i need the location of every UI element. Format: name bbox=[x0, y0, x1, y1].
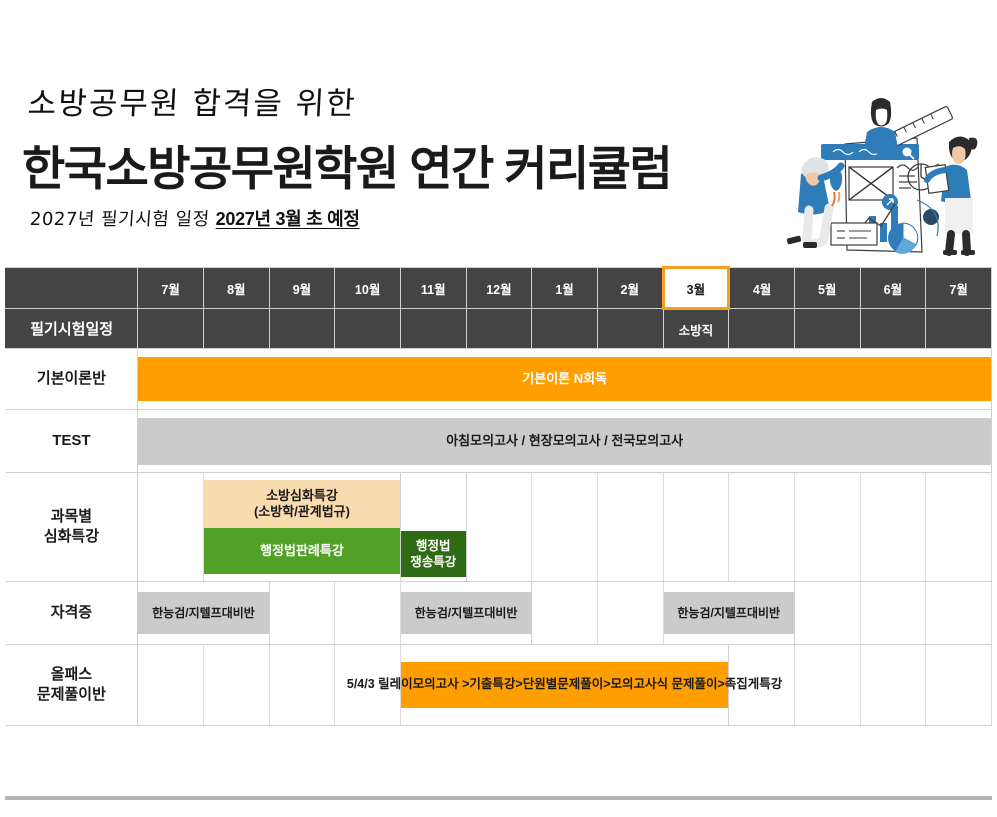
fire-intensive-bar[interactable]: 소방심화특강 (소방학/관계법규) bbox=[204, 480, 400, 528]
header-kicker: 소방공무원 합격을 위한 bbox=[27, 78, 358, 123]
cert-cell-5 bbox=[794, 582, 860, 645]
row-label-basic-theory: 기본이론반 bbox=[6, 349, 138, 410]
deep-bar-stack: 소방심화특강 (소방학/관계법규) 행정법판례특강 bbox=[204, 473, 400, 581]
admin-law-case-bar[interactable]: 행정법판례특강 bbox=[204, 528, 400, 574]
cert-cell-6 bbox=[860, 582, 926, 645]
month-header-10[interactable]: 10월 bbox=[335, 268, 401, 309]
deep-cell-4 bbox=[729, 473, 795, 582]
test-bar[interactable]: 아침모의고사 / 현장모의고사 / 전국모의고사 bbox=[138, 418, 991, 465]
deep-bars-cell-8-10: 소방심화특강 (소방학/관계법규) 행정법판례특강 bbox=[203, 473, 400, 582]
deep-cell-7b bbox=[926, 473, 992, 582]
month-header-9[interactable]: 9월 bbox=[269, 268, 335, 309]
cert-cell-7b bbox=[926, 582, 992, 645]
deep-cell-3 bbox=[663, 473, 729, 582]
table-corner-cell bbox=[6, 268, 138, 309]
cert-cell-2 bbox=[597, 582, 663, 645]
month-header-11[interactable]: 11월 bbox=[400, 268, 466, 309]
allpass-bar[interactable]: 5/4/3 릴레이모의고사 >기출특강>단원별문제풀이>모의고사식 문제풀이>족… bbox=[401, 662, 728, 708]
month-header-row: 7월 8월 9월 10월 11월 12월 1월 2월 3월 4월 5월 6월 7… bbox=[6, 268, 992, 309]
fire-intensive-line2: (소방학/관계법규) bbox=[254, 504, 350, 520]
table-row-allpass: 올패스 문제풀이반 5/4/3 릴레이모의고사 >기출특강>단원별문제풀이>모의… bbox=[6, 645, 992, 726]
basic-theory-bar-cell: 기본이론 N회독 bbox=[138, 349, 992, 410]
month-header-2[interactable]: 2월 bbox=[597, 268, 663, 309]
month-header-7[interactable]: 7월 bbox=[138, 268, 204, 309]
table-row-certification: 자격증 한능검/지텔프대비반 한능검/지텔프대비반 한능검/지텔프대비반 bbox=[6, 582, 992, 645]
exam-cell-3-firefighter: 소방직 bbox=[663, 309, 729, 349]
test-bar-cell: 아침모의고사 / 현장모의고사 / 전국모의고사 bbox=[138, 410, 992, 473]
exam-cell-7 bbox=[138, 309, 204, 349]
cert-bar-3[interactable]: 한능검/지텔프대비반 bbox=[664, 592, 794, 634]
deep-cell-5 bbox=[794, 473, 860, 582]
cert-bar-1[interactable]: 한능검/지텔프대비반 bbox=[138, 592, 268, 634]
cert-bar-cell-1: 한능검/지텔프대비반 bbox=[138, 582, 269, 645]
cert-bar-2[interactable]: 한능검/지텔프대비반 bbox=[401, 592, 531, 634]
row-label-exam-schedule: 필기시험일정 bbox=[6, 309, 138, 349]
allpass-cell-7b bbox=[926, 645, 992, 726]
cert-bar-cell-3: 한능검/지텔프대비반 bbox=[663, 582, 794, 645]
exam-cell-7b bbox=[926, 309, 992, 349]
cert-cell-10 bbox=[335, 582, 401, 645]
exam-cell-6 bbox=[860, 309, 926, 349]
row-label-deep-line1: 과목별 bbox=[6, 507, 138, 527]
table-row-deep-lectures: 과목별 심화특강 소방심화특강 (소방학/관계법규) 행정법판례특강 bbox=[6, 473, 992, 582]
exam-schedule-label: 2027년 필기시험 일정 bbox=[29, 205, 210, 231]
exam-cell-12 bbox=[466, 309, 532, 349]
allpass-bar-cell: 5/4/3 릴레이모의고사 >기출특강>단원별문제풀이>모의고사식 문제풀이>족… bbox=[400, 645, 728, 726]
row-label-allpass-line1: 올패스 bbox=[6, 665, 138, 685]
exam-cell-11 bbox=[400, 309, 466, 349]
table-row-basic-theory: 기본이론반 기본이론 N회독 bbox=[6, 349, 992, 410]
admin-law-litigation-line2: 쟁송특강 bbox=[410, 554, 456, 570]
allpass-cell-8 bbox=[203, 645, 269, 726]
business-analytics-illustration bbox=[759, 92, 991, 257]
month-header-12[interactable]: 12월 bbox=[466, 268, 532, 309]
bottom-rule bbox=[5, 796, 992, 800]
row-label-deep-line2: 심화특강 bbox=[6, 527, 138, 547]
deep-cell-2 bbox=[597, 473, 663, 582]
page-header: 소방공무원 합격을 위한 한국소방공무원학원 연간 커리큘럼 2027년 필기시… bbox=[0, 0, 997, 262]
deep-cell-7 bbox=[138, 473, 204, 582]
exam-cell-9 bbox=[269, 309, 335, 349]
deep-cell-6 bbox=[860, 473, 926, 582]
exam-cell-1 bbox=[532, 309, 598, 349]
basic-theory-bar[interactable]: 기본이론 N회독 bbox=[138, 357, 991, 401]
month-header-6[interactable]: 6월 bbox=[860, 268, 926, 309]
exam-cell-2 bbox=[597, 309, 663, 349]
allpass-cell-6 bbox=[860, 645, 926, 726]
deep-empty-top bbox=[401, 483, 466, 531]
admin-law-litigation-bar[interactable]: 행정법 쟁송특강 bbox=[401, 531, 466, 577]
exam-schedule-row: 필기시험일정 소방직 bbox=[6, 309, 992, 349]
allpass-cell-5 bbox=[794, 645, 860, 726]
deep-bar-stack-11: 행정법 쟁송특강 bbox=[401, 473, 466, 581]
admin-law-litigation-line1: 행정법 bbox=[416, 538, 451, 554]
month-header-7b[interactable]: 7월 bbox=[926, 268, 992, 309]
page-title: 한국소방공무원학원 연간 커리큘럼 bbox=[22, 130, 671, 199]
exam-schedule-date: 2027년 3월 초 예정 bbox=[216, 205, 360, 231]
exam-cell-8 bbox=[203, 309, 269, 349]
month-header-3-highlighted[interactable]: 3월 bbox=[663, 268, 729, 309]
fire-intensive-line1: 소방심화특강 bbox=[266, 488, 338, 504]
curriculum-table-wrap: 7월 8월 9월 10월 11월 12월 1월 2월 3월 4월 5월 6월 7… bbox=[5, 266, 992, 726]
exam-cell-5 bbox=[794, 309, 860, 349]
row-label-allpass-line2: 문제풀이반 bbox=[6, 685, 138, 705]
table-row-test: TEST 아침모의고사 / 현장모의고사 / 전국모의고사 bbox=[6, 410, 992, 473]
allpass-cell-7 bbox=[138, 645, 204, 726]
month-header-5[interactable]: 5월 bbox=[794, 268, 860, 309]
exam-cell-4 bbox=[729, 309, 795, 349]
curriculum-table: 7월 8월 9월 10월 11월 12월 1월 2월 3월 4월 5월 6월 7… bbox=[5, 266, 992, 726]
cert-cell-9 bbox=[269, 582, 335, 645]
row-label-test: TEST bbox=[6, 410, 138, 473]
deep-bars-cell-11: 행정법 쟁송특강 bbox=[400, 473, 466, 582]
allpass-cell-9 bbox=[269, 645, 335, 726]
deep-cell-1 bbox=[532, 473, 598, 582]
month-header-4[interactable]: 4월 bbox=[729, 268, 795, 309]
exam-cell-10 bbox=[335, 309, 401, 349]
month-header-8[interactable]: 8월 bbox=[203, 268, 269, 309]
month-header-1[interactable]: 1월 bbox=[532, 268, 598, 309]
row-label-allpass: 올패스 문제풀이반 bbox=[6, 645, 138, 726]
exam-schedule-note: 2027년 필기시험 일정 2027년 3월 초 예정 bbox=[30, 205, 360, 231]
cert-bar-cell-2: 한능검/지텔프대비반 bbox=[400, 582, 531, 645]
cert-cell-1 bbox=[532, 582, 598, 645]
deep-cell-12 bbox=[466, 473, 532, 582]
row-label-certification: 자격증 bbox=[6, 582, 138, 645]
row-label-deep-lectures: 과목별 심화특강 bbox=[6, 473, 138, 582]
allpass-bar-text: 5/4/3 릴레이모의고사 >기출특강>단원별문제풀이>모의고사식 문제풀이>족… bbox=[347, 677, 782, 693]
